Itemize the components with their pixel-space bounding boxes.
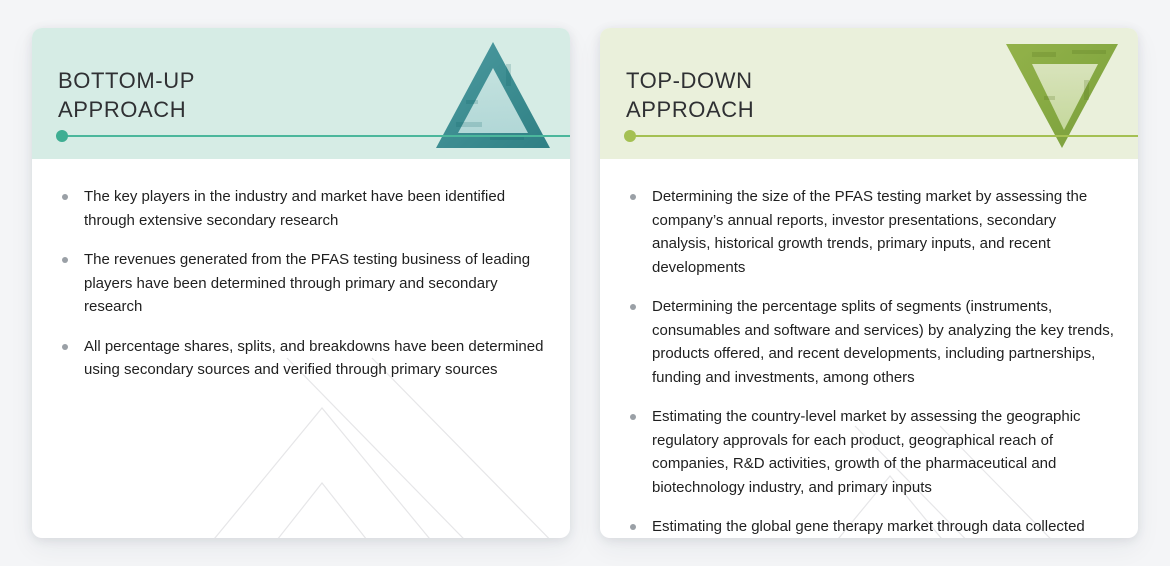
accent-rule-top-down — [624, 130, 1138, 142]
accent-line — [62, 135, 570, 137]
accent-dot — [56, 130, 68, 142]
list-item: Determining the percentage splits of seg… — [622, 295, 1116, 389]
list-item: Estimating the country-level market by a… — [622, 405, 1116, 499]
list-item: Determining the size of the PFAS testing… — [622, 185, 1116, 279]
accent-rule-bottom-up — [56, 130, 570, 142]
card-header-top-down: TOP-DOWN APPROACH — [600, 28, 1138, 159]
card-bottom-up-approach: BOTTOM-UP APPROACH — [32, 28, 570, 538]
card-body-bottom-up: The key players in the industry and mark… — [32, 159, 570, 538]
list-item: The revenues generated from the PFAS tes… — [54, 248, 548, 319]
card-top-down-approach: TOP-DOWN APPROACH — [600, 28, 1138, 538]
accent-dot — [624, 130, 636, 142]
card-body-top-down: Determining the size of the PFAS testing… — [600, 159, 1138, 538]
list-item: Estimating the global gene therapy marke… — [622, 515, 1116, 538]
page-title-bottom-up: BOTTOM-UP APPROACH — [58, 66, 195, 124]
list-item: All percentage shares, splits, and break… — [54, 335, 548, 382]
list-item: The key players in the industry and mark… — [54, 185, 548, 232]
approach-comparison-board: BOTTOM-UP APPROACH — [0, 0, 1170, 566]
accent-line — [630, 135, 1138, 137]
bullet-list-top-down: Determining the size of the PFAS testing… — [622, 185, 1116, 538]
bullet-list-bottom-up: The key players in the industry and mark… — [54, 185, 548, 382]
page-title-top-down: TOP-DOWN APPROACH — [626, 66, 754, 124]
card-header-bottom-up: BOTTOM-UP APPROACH — [32, 28, 570, 159]
